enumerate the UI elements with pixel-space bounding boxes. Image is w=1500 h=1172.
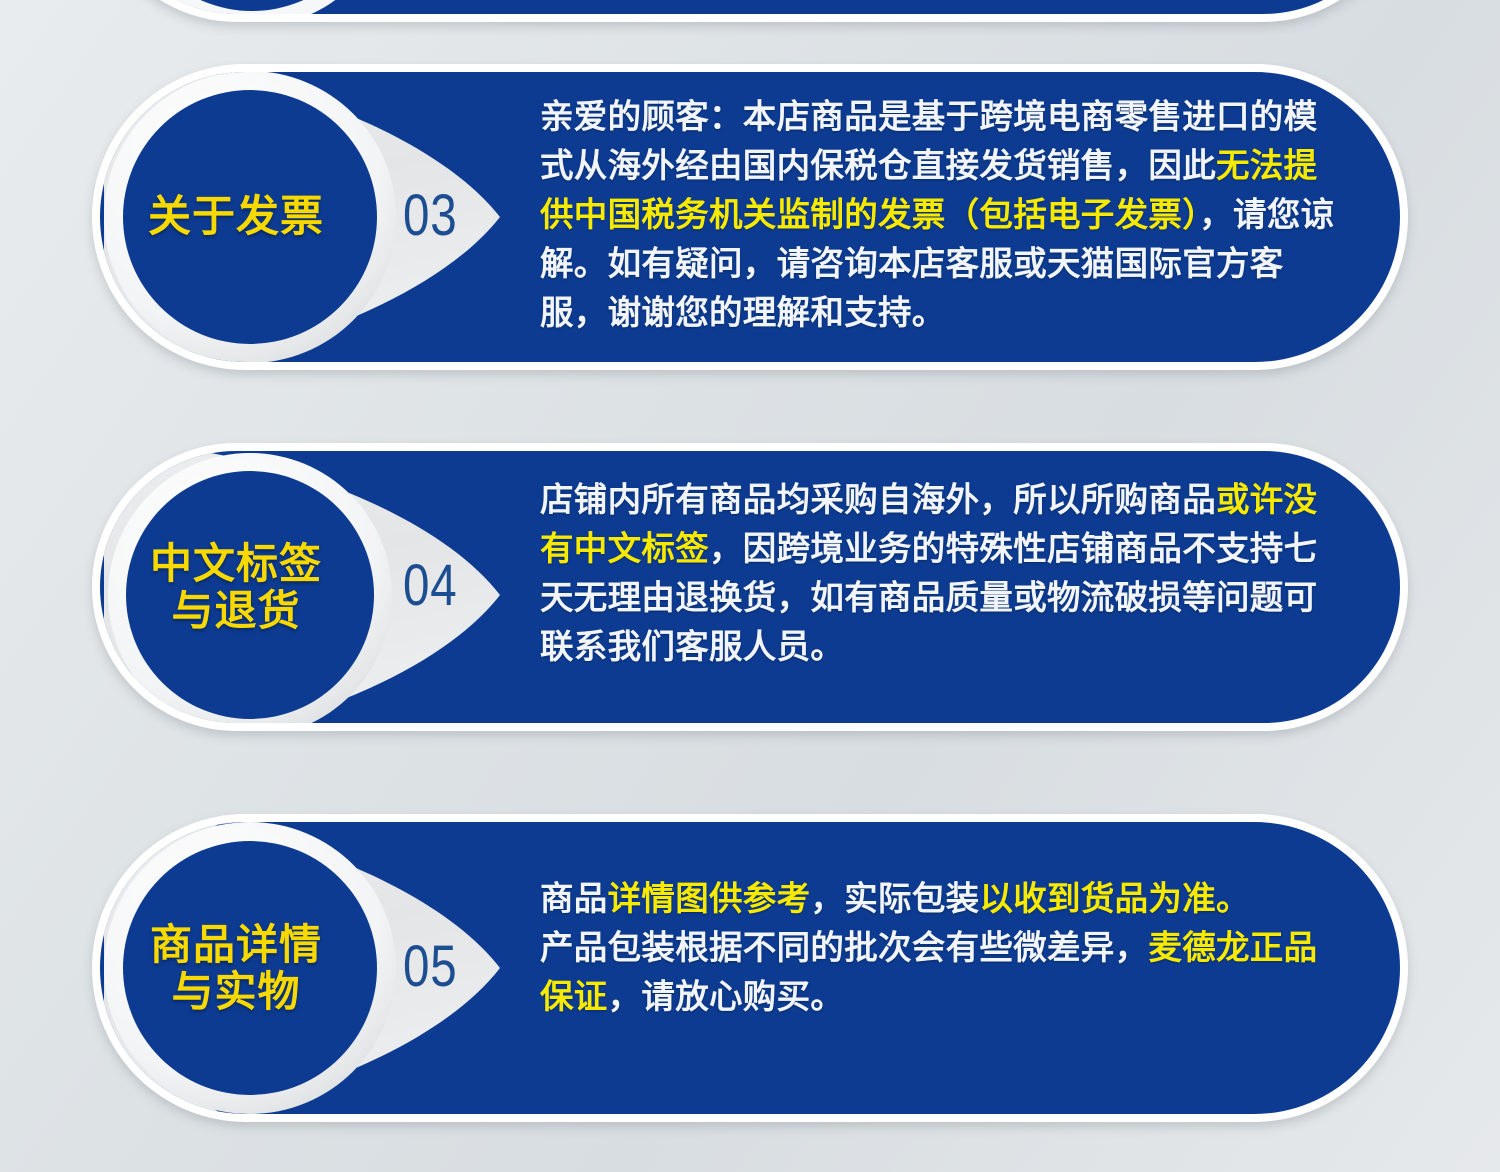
notice-card-chinese-label-returns: 中文标签 与退货 04 店铺内所有商品均采购自海外，所以所购商品或许没有中文标签… (92, 443, 1408, 731)
notice-card-body: 中文标签 与退货 04 店铺内所有商品均采购自海外，所以所购商品或许没有中文标签… (100, 451, 1400, 723)
notice-card-invoice: 关于发票 03 亲爱的顾客：本店商品是基于跨境电商零售进口的模式从海外经由国内保… (92, 64, 1408, 370)
notice-card-text: 商品详情图供参考，实际包装以收到货品为准。产品包装根据不同的批次会有些微差异，麦… (540, 876, 1348, 1023)
eye-wedge-icon (100, 0, 520, 14)
notice-card-text: 亲爱的顾客：本店商品是基于跨境电商零售进口的模式从海外经由国内保税仓直接发货销售… (540, 94, 1348, 339)
eye-wedge-icon (100, 822, 520, 1114)
notice-card-text: 店铺内所有商品均采购自海外，所以所购商品或许没有中文标签，因跨境业务的特殊性店铺… (540, 477, 1348, 673)
eye-wedge-icon (100, 72, 520, 362)
eye-wedge-icon (100, 451, 520, 723)
notice-cards-page: 关于发票 03 亲爱的顾客：本店商品是基于跨境电商零售进口的模式从海外经由国内保… (0, 0, 1500, 1172)
notice-card-previous-partial (92, 0, 1408, 22)
notice-card-body (100, 0, 1400, 14)
notice-card-product-details: 商品详情 与实物 05 商品详情图供参考，实际包装以收到货品为准。产品包装根据不… (92, 814, 1408, 1122)
notice-card-body: 关于发票 03 亲爱的顾客：本店商品是基于跨境电商零售进口的模式从海外经由国内保… (100, 72, 1400, 362)
notice-card-body: 商品详情 与实物 05 商品详情图供参考，实际包装以收到货品为准。产品包装根据不… (100, 822, 1400, 1114)
